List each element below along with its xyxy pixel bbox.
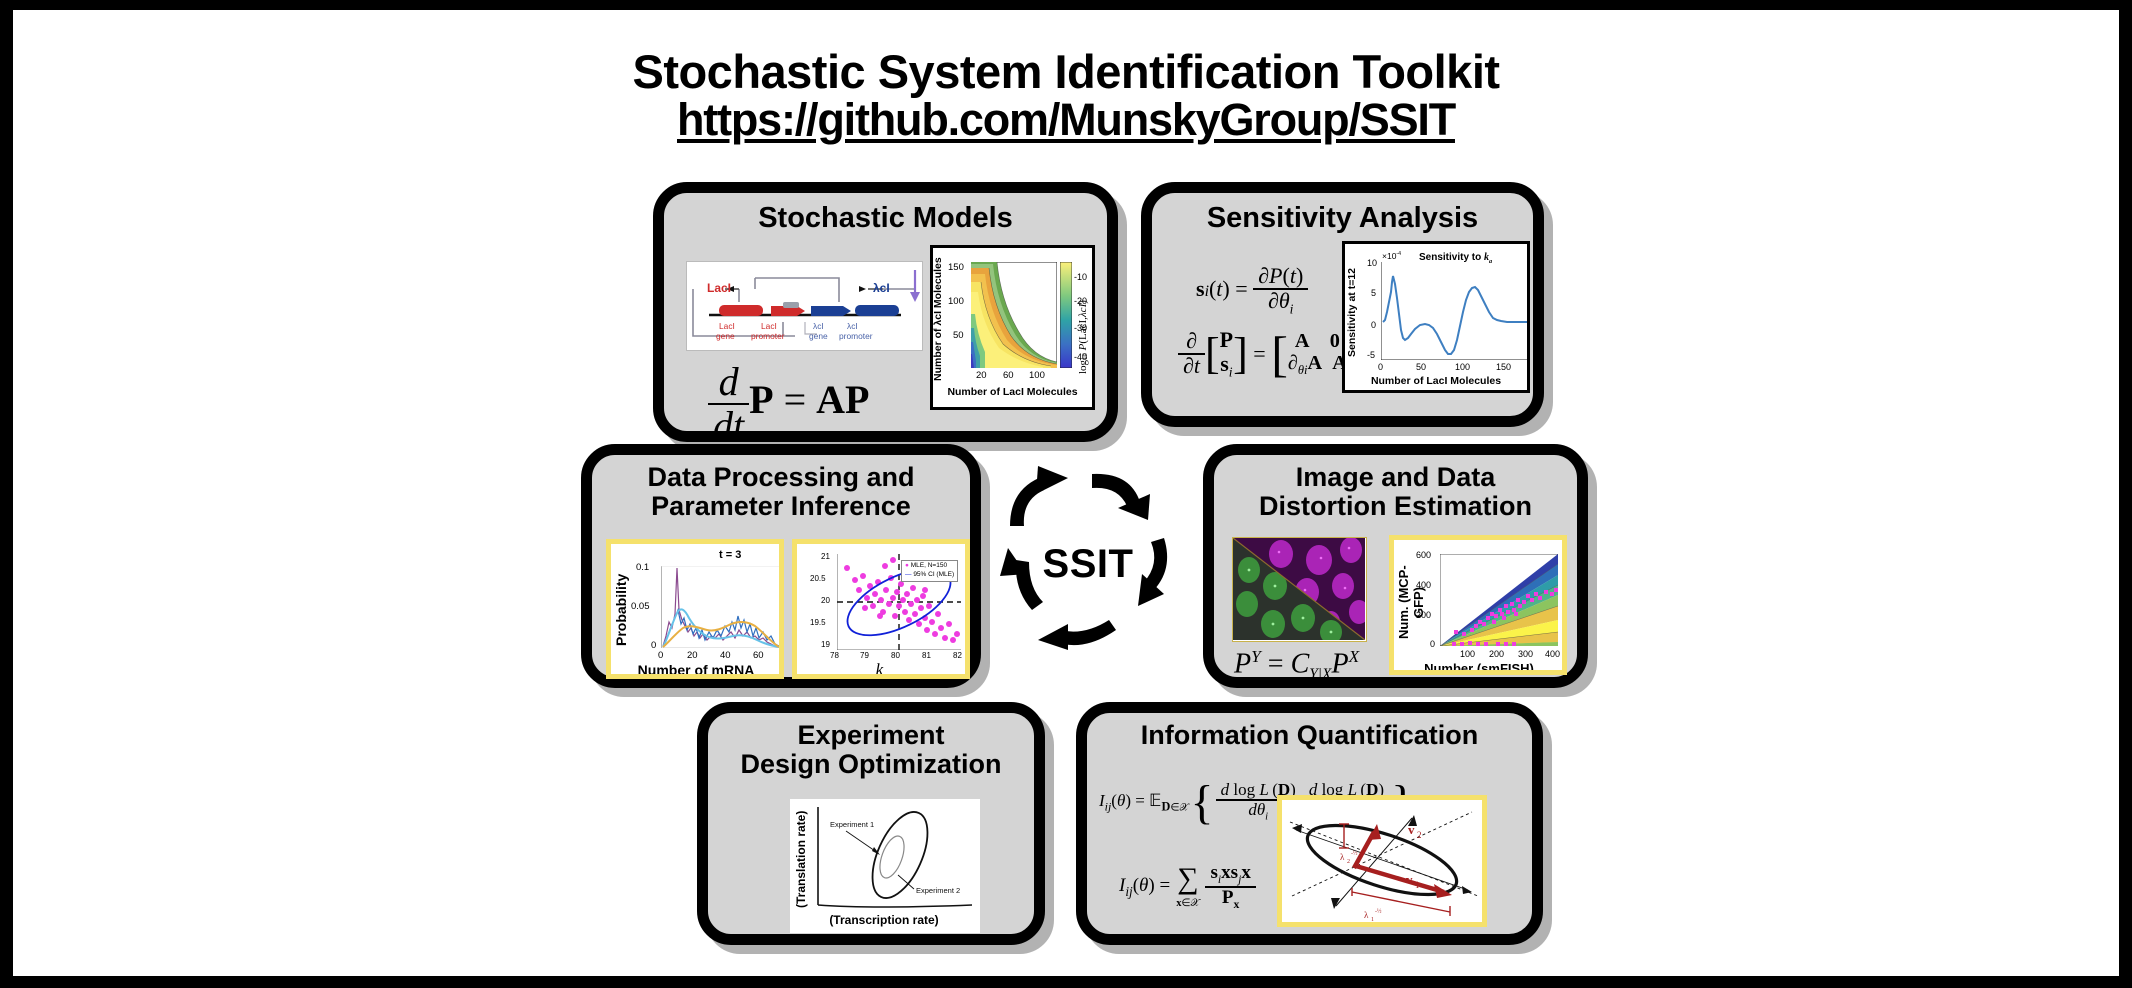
hist-xtick-20: 20 [687, 650, 698, 661]
svg-text:v: v [1408, 822, 1415, 837]
dist-ytick-0: 0 [1430, 639, 1435, 649]
svg-text:λ: λ [1340, 852, 1345, 862]
svg-text:2: 2 [1347, 859, 1350, 865]
dist-ytick-400: 400 [1416, 580, 1431, 590]
distortion-bands-svg [1440, 554, 1558, 646]
sens-xtick-0: 0 [1378, 362, 1383, 372]
hist-annotation: t = 3 [719, 549, 741, 561]
dist-xtick-300: 300 [1518, 649, 1533, 659]
panel-title-experiment-line2: Design Optimization [708, 750, 1034, 779]
svg-text:Experiment 1: Experiment 1 [830, 820, 874, 829]
gene-circuit-svg: LacI λcI LacI gene LacI promoter λcI gen… [687, 262, 922, 350]
panel-experiment-design[interactable]: Experiment Design Optimization (Translat… [697, 702, 1045, 945]
scatter-ytick-19: 19 [821, 640, 830, 649]
panel-title-data-processing-line1: Data Processing and [592, 463, 970, 492]
hist-xlabel: Number of mRNA [611, 662, 781, 678]
hist-xtick-0: 0 [658, 650, 663, 661]
sens-ytick-10: 10 [1367, 258, 1377, 268]
scatter-legend: ● MLE, N=150 — 95% CI (MLE) [901, 560, 958, 582]
panel-information-quantification[interactable]: Information Quantification Iij(θ) = 𝔼D∈𝒳… [1076, 702, 1543, 945]
sensitivity-exponent: ×10-4 [1382, 251, 1401, 261]
panel-title-information: Information Quantification [1087, 721, 1532, 750]
cycle-arrow-topright [1092, 474, 1150, 520]
distortion-chart-figure: Num. (MCP-GFP) 600 400 200 0 [1389, 535, 1567, 675]
svg-text:v: v [1406, 872, 1413, 887]
mrna-histogram-figure: t = 3 Probability 0.1 0.05 0 0 20 40 60 … [606, 539, 784, 679]
panel-title-distortion-line2: Distortion Estimation [1214, 492, 1577, 521]
sensitivity-figure: Sensitivity at t=12 Sensitivity to ka ×1… [1342, 241, 1530, 393]
scatter-xtick-82: 82 [953, 651, 962, 660]
svg-text:λcI: λcI [873, 281, 890, 295]
colorbar-label: log10 P(LacI,λcI) [1077, 256, 1089, 374]
scatter-xtick-78: 78 [830, 651, 839, 660]
scatter-ytick-20.5: 20.5 [810, 574, 826, 583]
experiment-ellipses-svg: Experiment 1 Experiment 2 [812, 805, 976, 913]
svg-text:λ: λ [1364, 910, 1369, 920]
microscopy-svg [1233, 538, 1365, 640]
svg-text:Experiment 2: Experiment 2 [916, 886, 960, 895]
joint-distribution-figure: Number of λcI Molecules 150 100 50 [930, 245, 1095, 410]
svg-text:1: 1 [1371, 917, 1374, 922]
svg-text:gene: gene [716, 331, 735, 341]
ssit-cycle: SSIT [988, 450, 1188, 675]
gene-circuit-figure: LacI λcI LacI gene LacI promoter λcI gen… [686, 261, 923, 351]
contour-ytick-150: 150 [948, 262, 964, 273]
svg-text:λcI: λcI [813, 321, 824, 331]
hist-ylabel: Probability [613, 562, 629, 658]
contour-xtick-60: 60 [1003, 370, 1014, 381]
sensitivity-ylabel: Sensitivity at t=12 [1346, 254, 1358, 372]
dist-xlabel: Number (smFISH) [1394, 661, 1564, 675]
microscopy-image [1232, 537, 1367, 642]
hist-xtick-60: 60 [753, 650, 764, 661]
repository-link[interactable]: https://github.com/MunskyGroup/SSIT [13, 95, 2119, 145]
scatter-ytick-19.5: 19.5 [810, 618, 826, 627]
scatter-xtick-80: 80 [891, 651, 900, 660]
panel-title-experiment-line1: Experiment [708, 721, 1034, 750]
mle-scatter-figure: 21 20.5 20 19.5 19 [792, 539, 970, 679]
panel-title-distortion-line1: Image and Data [1214, 463, 1577, 492]
contour-plot-svg [971, 262, 1057, 368]
mrna-hist-svg [661, 566, 779, 648]
sens-xtick-150: 150 [1496, 362, 1511, 372]
contour-xtick-20: 20 [976, 370, 987, 381]
sens-xtick-100: 100 [1455, 362, 1470, 372]
dist-xtick-100: 100 [1460, 649, 1475, 659]
svg-text:LacI: LacI [707, 281, 731, 295]
cycle-arrow-upleft [1010, 466, 1068, 526]
sensitivity-curve [1381, 262, 1527, 360]
dist-ytick-600: 600 [1416, 550, 1431, 560]
distortion-equation: PY = CY|XPX [1234, 647, 1359, 684]
sensitivity-xlabel: Number of LacI Molecules [1345, 375, 1527, 387]
scatter-ytick-20: 20 [821, 596, 830, 605]
hist-ytick-0: 0 [651, 640, 656, 651]
svg-text:1: 1 [1415, 880, 1420, 890]
page-title: Stochastic System Identification Toolkit [13, 48, 2119, 95]
dist-xtick-200: 200 [1489, 649, 1504, 659]
contour-xlabel: Number of LacI Molecules [933, 386, 1092, 398]
panel-data-processing[interactable]: Data Processing and Parameter Inference … [581, 444, 981, 688]
master-equation: ddtP = AP [708, 361, 869, 446]
scatter-ytick-21: 21 [821, 552, 830, 561]
scatter-xtick-79: 79 [860, 651, 869, 660]
dist-ytick-200: 200 [1416, 610, 1431, 620]
exp-xlabel: (Transcription rate) [790, 913, 978, 927]
contour-ytick-100: 100 [948, 296, 964, 307]
eigenvector-ellipse-figure: v 2 v 1 λ 2 -½ λ 1 -½ [1277, 795, 1487, 927]
svg-text:promoter: promoter [839, 331, 873, 341]
hist-ytick-0.1: 0.1 [636, 562, 649, 573]
fisher-information-equation-2: Iij(θ) = ∑x∈𝒳 sixsjxPx [1119, 863, 1256, 911]
colorbar [1060, 262, 1072, 368]
contour-ytick-50: 50 [953, 330, 964, 341]
sens-ytick--5: -5 [1367, 350, 1375, 360]
svg-text:LacI: LacI [719, 321, 735, 331]
contour-xtick-100: 100 [1029, 370, 1045, 381]
scatter-xlabel: ka [797, 660, 967, 679]
svg-text:λcI: λcI [847, 321, 858, 331]
sens-ytick-5: 5 [1371, 288, 1376, 298]
panel-title-data-processing-line2: Parameter Inference [592, 492, 970, 521]
panel-sensitivity-analysis[interactable]: Sensitivity Analysis si(t) = ∂P(t)∂θi ∂∂… [1141, 182, 1544, 427]
panel-title-stochastic-models: Stochastic Models [664, 203, 1107, 234]
contour-ylabel: Number of λcI Molecules [932, 254, 944, 384]
sens-ytick-0: 0 [1371, 320, 1376, 330]
svg-text:promoter: promoter [751, 331, 785, 341]
exp-ylabel: (Translation rate) [794, 807, 808, 911]
svg-text:-½: -½ [1351, 850, 1358, 857]
poster-canvas: Stochastic System Identification Toolkit… [13, 10, 2119, 976]
eigen-ellipse-svg: v 2 v 1 λ 2 -½ λ 1 -½ [1282, 800, 1482, 922]
hist-ytick-0.05: 0.05 [631, 601, 650, 612]
dist-ylabel: Num. (MCP-GFP) [1396, 552, 1426, 652]
header: Stochastic System Identification Toolkit… [13, 48, 2119, 145]
panel-stochastic-models[interactable]: Stochastic Models [653, 182, 1118, 442]
panel-title-sensitivity: Sensitivity Analysis [1152, 203, 1533, 234]
svg-text:gene: gene [809, 331, 828, 341]
hist-xtick-40: 40 [720, 650, 731, 661]
panel-distortion-estimation[interactable]: Image and Data Distortion Estimation [1203, 444, 1588, 688]
cycle-arrow-bottom [1038, 620, 1116, 650]
legend-ci: 95% CI (MLE) [913, 571, 954, 578]
scatter-xtick-81: 81 [922, 651, 931, 660]
svg-text:-½: -½ [1375, 908, 1382, 915]
legend-mle: MLE, N=150 [911, 562, 947, 569]
svg-text:LacI: LacI [761, 321, 777, 331]
experiment-design-figure: (Translation rate) Experiment 1 Experime… [790, 799, 980, 933]
sens-xtick-50: 50 [1416, 362, 1426, 372]
ssit-label: SSIT [988, 542, 1188, 587]
dist-xtick-400: 400 [1545, 649, 1560, 659]
svg-text:2: 2 [1417, 830, 1422, 840]
